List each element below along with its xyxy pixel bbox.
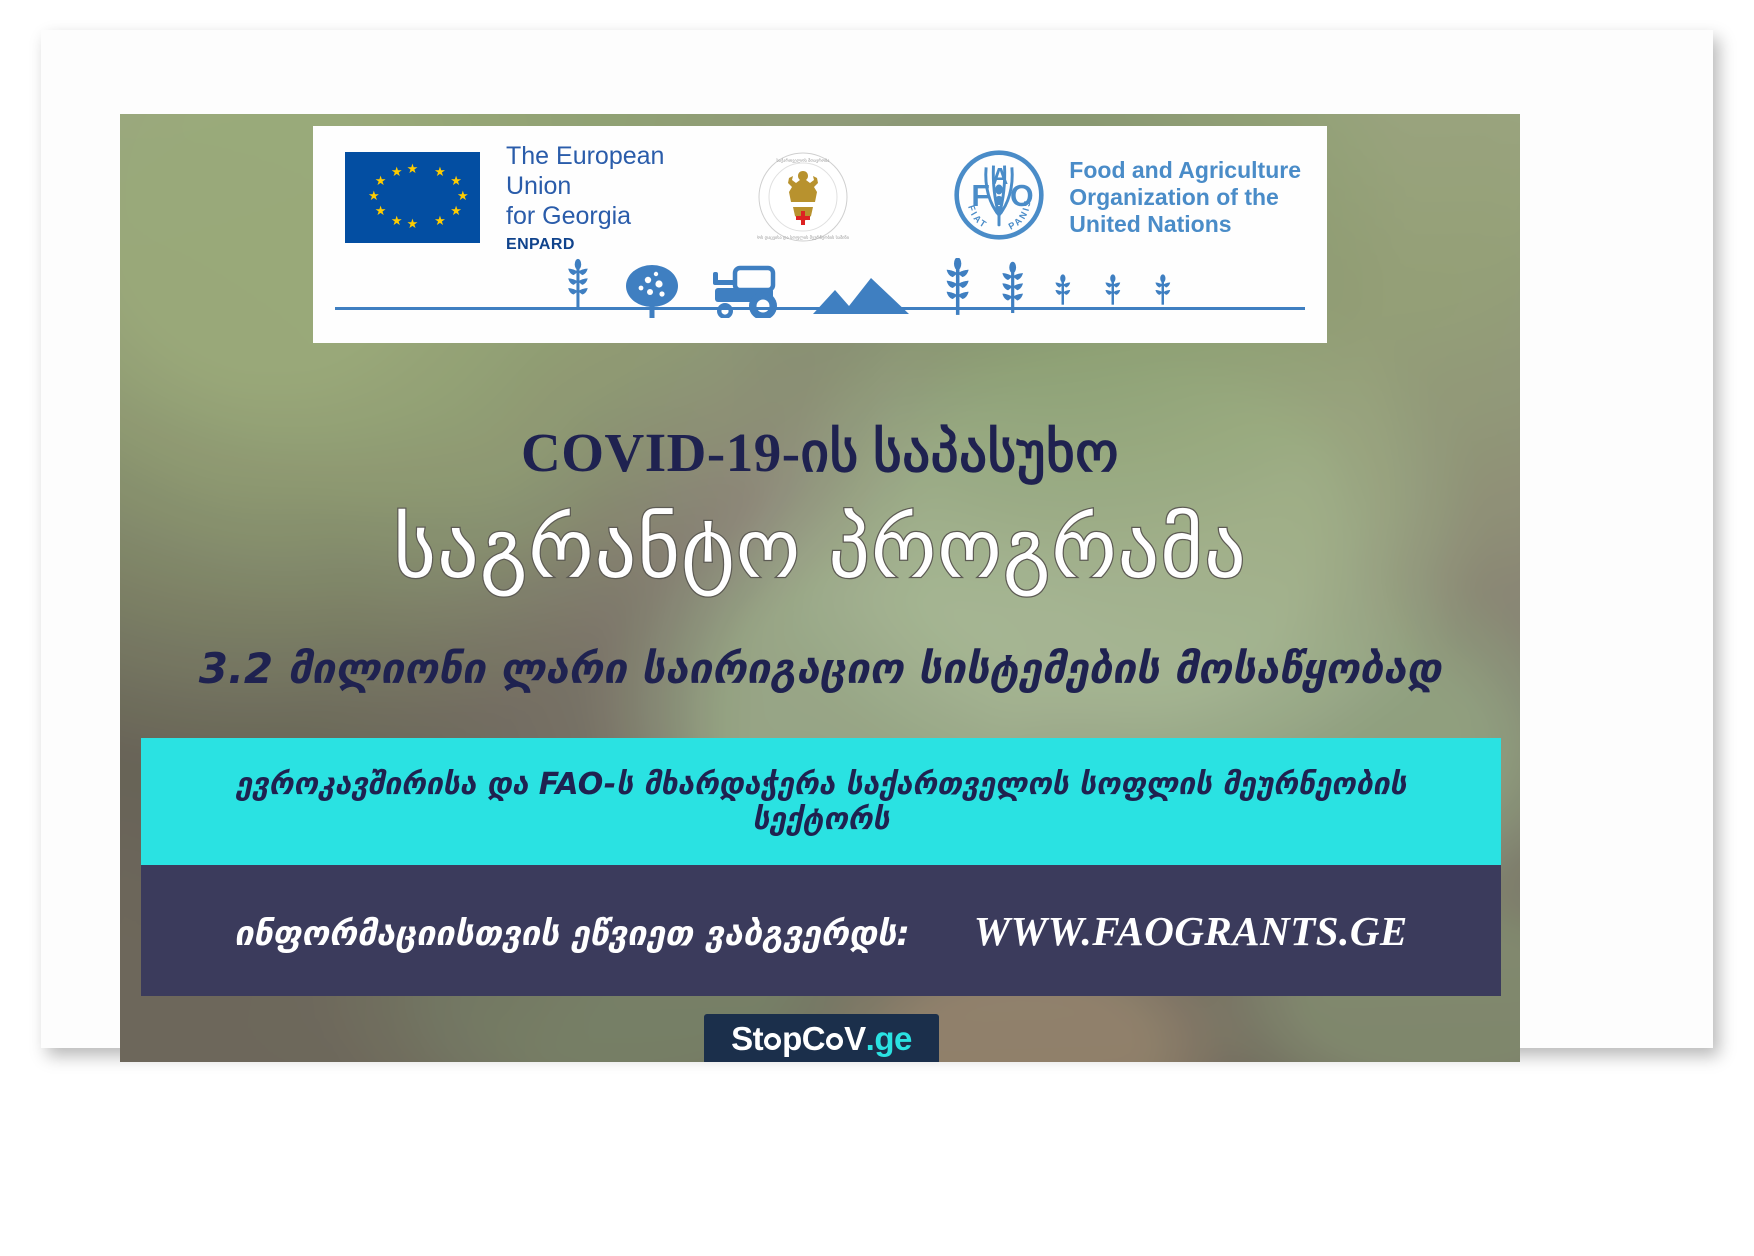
page-title: COVID-19-ის საპასუხო xyxy=(120,420,1520,484)
svg-text:საქართველოს მთავრობა: საქართველოს მთავრობა xyxy=(777,159,830,164)
fao-logo-block: F A O xyxy=(953,149,1301,245)
eu-line1: The European Union xyxy=(506,141,669,201)
stopcov-ring-icon xyxy=(764,1033,781,1050)
stopcov-part1: St xyxy=(731,1020,763,1058)
fao-line3: United Nations xyxy=(1069,211,1301,238)
stopcov-part2: pC xyxy=(782,1020,825,1058)
logo-strip-divider xyxy=(335,307,1305,310)
slide-page: ★ ★ ★ ★ ★ ★ ★ ★ ★ ★ ★ ★ The European Uni… xyxy=(41,30,1713,1048)
fao-logo-text: Food and Agriculture Organization of the… xyxy=(1069,157,1301,238)
stopcov-part3: V xyxy=(844,1020,866,1058)
svg-text:გარემოს დაცვისა და სოფლის მეურ: გარემოს დაცვისა და სოფლის მეურნეობის სამ… xyxy=(757,236,849,241)
support-message-text: ევროკავშირისა და FAO-ს მხარდაჭერა საქართ… xyxy=(141,767,1501,837)
agriculture-icon-row xyxy=(313,258,1327,318)
donor-logo-strip: ★ ★ ★ ★ ★ ★ ★ ★ ★ ★ ★ ★ The European Uni… xyxy=(313,126,1327,343)
website-url[interactable]: WWW.FAOGRANTS.GE xyxy=(948,908,1434,954)
stopcov-badge[interactable]: St pC V .ge xyxy=(704,1014,939,1062)
eu-logo-text: The European Union for Georgia ENPARD xyxy=(506,141,669,254)
poster-heading: საგრანტო პროგრამა xyxy=(120,502,1520,597)
fao-logo-icon: F A O xyxy=(953,149,1045,245)
georgia-government-emblem-icon: საქართველოს მთავრობა გარემოს დაცვისა და … xyxy=(757,151,849,243)
fao-line2: Organization of the xyxy=(1069,184,1301,211)
website-info-prefix: ინფორმაციისთვის ეწვიეთ ვაბგვერდს: xyxy=(208,914,936,954)
website-info-band: ინფორმაციისთვის ეწვიეთ ვაბგვერდს: WWW.FA… xyxy=(141,865,1501,996)
support-message-band: ევროკავშირისა და FAO-ს მხარდაჭერა საქართ… xyxy=(141,738,1501,865)
logo-row: ★ ★ ★ ★ ★ ★ ★ ★ ★ ★ ★ ★ The European Uni… xyxy=(313,126,1327,254)
stopcov-ring-icon-2 xyxy=(826,1033,843,1050)
eu-line2: for Georgia xyxy=(506,201,669,231)
eu-programme-label: ENPARD xyxy=(506,236,669,254)
poster-photo-background: ★ ★ ★ ★ ★ ★ ★ ★ ★ ★ ★ ★ The European Uni… xyxy=(120,114,1520,1062)
website-info-text: ინფორმაციისთვის ეწვიეთ ვაბგვერდს: WWW.FA… xyxy=(182,907,1460,955)
poster-subtitle: 3.2 მილიონი ლარი საირიგაციო სისტემების მ… xyxy=(120,644,1520,693)
fao-line1: Food and Agriculture xyxy=(1069,157,1301,184)
eu-flag-icon: ★ ★ ★ ★ ★ ★ ★ ★ ★ ★ ★ ★ xyxy=(345,152,480,243)
stopcov-part4: .ge xyxy=(866,1020,912,1058)
